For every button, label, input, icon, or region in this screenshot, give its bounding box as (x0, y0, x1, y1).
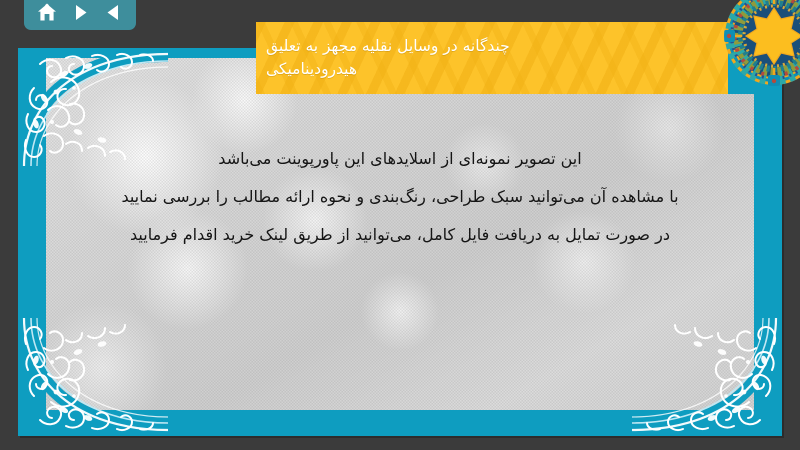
body-line-1: این تصویر نمونه‌ای از اسلایدهای این پاور… (58, 140, 742, 178)
title-banner-body: چندگانه در وسایل نقلیه مجهز به تعلیق هید… (256, 22, 728, 94)
persian-medallion-ornament (724, 0, 800, 86)
body-line-2: با مشاهده آن می‌توانید سبک طراحی، رنگ‌بن… (58, 178, 742, 216)
home-button[interactable] (33, 0, 61, 24)
title-line-3: هیدرودینامیکی (266, 58, 357, 81)
next-slide-button[interactable] (66, 0, 94, 24)
slide-body-text: این تصویر نمونه‌ای از اسلایدهای این پاور… (58, 140, 742, 254)
previous-slide-button[interactable] (99, 0, 127, 24)
title-line-2: چندگانه در وسایل نقلیه مجهز به تعلیق (266, 35, 510, 58)
body-line-3: در صورت تمایل به دریافت فایل کامل، می‌تو… (58, 216, 742, 254)
slide-frame: این تصویر نمونه‌ای از اسلایدهای این پاور… (18, 48, 782, 436)
slide-navigation (24, 0, 136, 30)
home-icon (37, 3, 57, 22)
slide-title-banner: چندگانه در وسایل نقلیه مجهز به تعلیق هید… (256, 22, 758, 94)
triangle-right-icon (72, 4, 89, 21)
slide-preview-window: این تصویر نمونه‌ای از اسلایدهای این پاور… (0, 0, 800, 450)
triangle-left-icon (105, 4, 122, 21)
